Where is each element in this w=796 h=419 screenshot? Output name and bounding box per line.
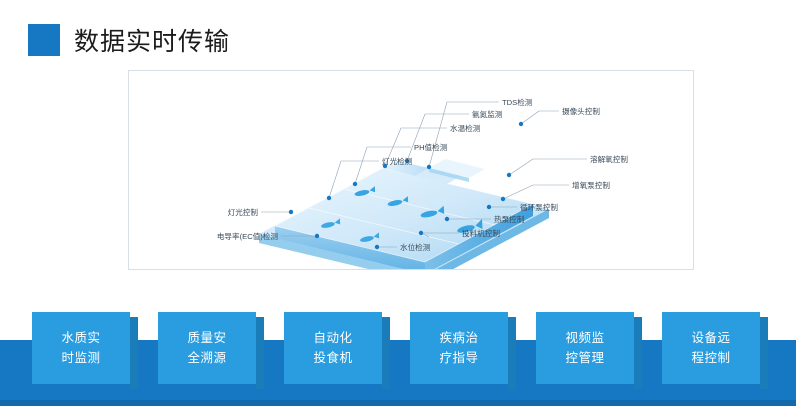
chip-line-1: 自动化 xyxy=(313,328,352,348)
chip-side-face xyxy=(256,317,264,389)
label-dissolved-oxygen-control: 溶解氧控制 xyxy=(590,154,628,164)
feature-chip-disease-guidance[interactable]: 疾病治 疗指导 xyxy=(410,312,508,384)
diagram-panel: TDS检测 氨氮监测 水温检测 PH值检测 灯光检测 摄像头控制 溶解氧控制 增… xyxy=(128,70,694,270)
label-circulation-pump-control: 循环泵控制 xyxy=(520,202,558,212)
label-ec-detect: 电导率(EC值)检测 xyxy=(217,231,279,241)
chip-side-face xyxy=(760,317,768,389)
chip-line-1: 视频监 xyxy=(565,328,604,348)
page-title: 数据实时传输 xyxy=(74,22,230,58)
chip-line-2: 时监测 xyxy=(61,348,100,368)
feature-ribbon: 水质实 时监测 质量安 全溯源 自动化 投食机 疾病治 疗指导 视频监 控管理 … xyxy=(0,312,796,419)
label-camera-control: 摄像头控制 xyxy=(562,106,600,116)
chip-line-1: 疾病治 xyxy=(439,328,478,348)
water-monitoring-diagram: TDS检测 氨氮监测 水温检测 PH值检测 灯光检测 摄像头控制 溶解氧控制 增… xyxy=(129,71,693,269)
label-ph: PH值检测 xyxy=(414,142,448,152)
page-header: 数据实时传输 xyxy=(28,22,230,58)
feature-chip-remote-control[interactable]: 设备远 程控制 xyxy=(662,312,760,384)
chip-line-1: 质量安 xyxy=(187,328,226,348)
label-light-control: 灯光控制 xyxy=(228,207,259,217)
feature-chip-video-monitoring[interactable]: 视频监 控管理 xyxy=(536,312,634,384)
label-ammonia: 氨氮监测 xyxy=(472,109,503,119)
label-aerator-pump-control: 增氧泵控制 xyxy=(572,180,610,190)
chip-side-face xyxy=(382,317,390,389)
chip-line-2: 控管理 xyxy=(565,348,604,368)
ribbon-band-shadow xyxy=(0,400,796,406)
chip-side-face xyxy=(508,317,516,389)
label-heat-pump-control: 热泵控制 xyxy=(494,214,525,224)
chip-line-2: 疗指导 xyxy=(439,348,478,368)
feature-chip-water-quality[interactable]: 水质实 时监测 xyxy=(32,312,130,384)
label-tds: TDS检测 xyxy=(502,97,533,107)
chip-line-1: 水质实 xyxy=(61,328,100,348)
chip-side-face xyxy=(634,317,642,389)
label-water-temp: 水温检测 xyxy=(450,123,481,133)
chip-side-face xyxy=(130,317,138,389)
label-water-level-detect: 水位检测 xyxy=(400,242,431,252)
label-light-detect: 灯光检测 xyxy=(382,156,413,166)
tank-graphic xyxy=(221,159,549,269)
chip-line-2: 全溯源 xyxy=(187,348,226,368)
chip-line-1: 设备远 xyxy=(691,328,730,348)
feature-chip-auto-feeder[interactable]: 自动化 投食机 xyxy=(284,312,382,384)
chip-line-2: 投食机 xyxy=(313,348,352,368)
chip-line-2: 程控制 xyxy=(691,348,730,368)
label-feeder-control: 投料机控制 xyxy=(462,228,500,238)
feature-chip-quality-traceability[interactable]: 质量安 全溯源 xyxy=(158,312,256,384)
header-accent-square xyxy=(28,24,60,56)
